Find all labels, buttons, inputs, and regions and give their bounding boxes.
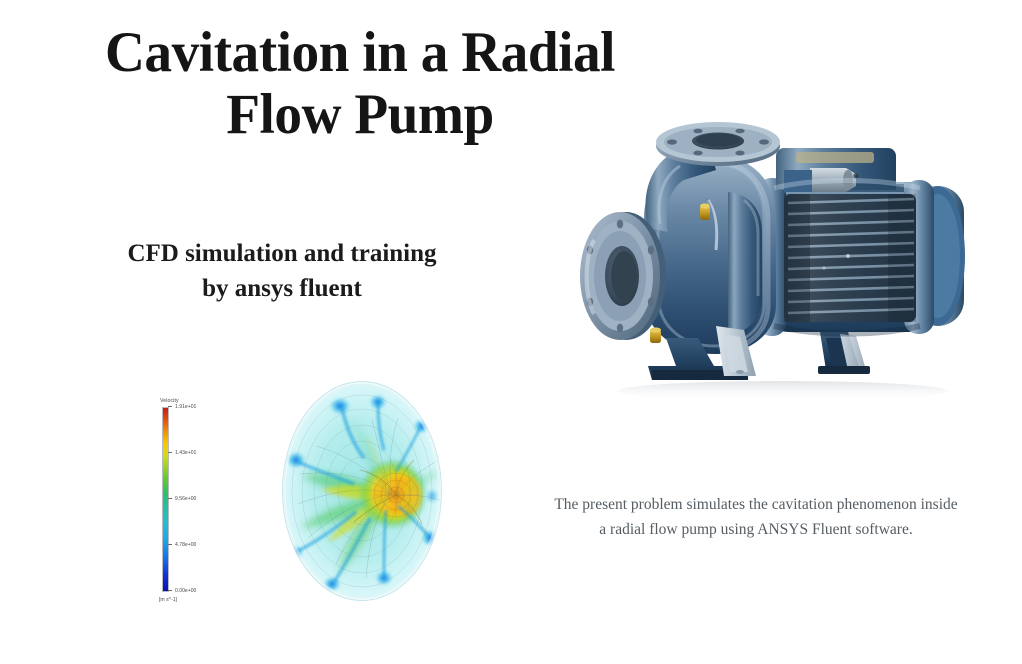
contour-plot-icon: [272, 378, 457, 613]
subtitle: CFD simulation and training by ansys flu…: [42, 236, 522, 306]
colorbar-tick-label-3: 4.78e+00: [175, 542, 196, 548]
colorbar-tick-4: 0.00e+00: [175, 588, 196, 594]
slide-canvas: Cavitation in a Radial Flow Pump CFD sim…: [0, 0, 1022, 664]
caption-line2: a radial flow pump using ANSYS Fluent so…: [492, 517, 1020, 542]
colorbar-tick-1: 1.43e+01: [175, 450, 196, 456]
colorbar-tick-2: 9.56e+00: [175, 496, 196, 502]
caption: The present problem simulates the cavita…: [492, 492, 1020, 542]
caption-line1: The present problem simulates the cavita…: [554, 496, 957, 513]
colorbar-icon: [162, 407, 169, 592]
colorbar-tick-0: 1.91e+01: [175, 404, 196, 410]
colorbar-tick-label-4: 0.00e+00: [175, 588, 196, 594]
subtitle-line1: CFD simulation and training: [127, 240, 436, 267]
pump-photo-icon: [548, 108, 1008, 403]
colorbar-tick-label-0: 1.91e+01: [175, 404, 196, 410]
colorbar-unit: [m s^-1]: [159, 597, 177, 603]
velocity-colorbar-legend: Velocity 1.91e+01 1.43e+01 9.56e+00 4.78…: [158, 398, 222, 610]
colorbar-tick-3: 4.78e+00: [175, 542, 196, 548]
subtitle-line2: by ansys fluent: [42, 271, 522, 306]
colorbar-tick-label-2: 9.56e+00: [175, 496, 196, 502]
colorbar-tick-label-1: 1.43e+01: [175, 450, 196, 456]
page-title-line1: Cavitation in a Radial: [105, 21, 615, 84]
